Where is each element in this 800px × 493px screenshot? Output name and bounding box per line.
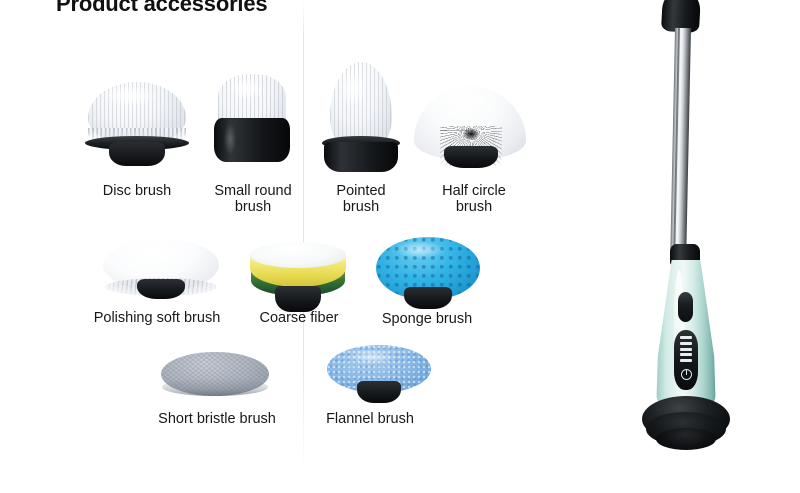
flannel-brush-highlight [349,350,395,364]
accessory-label-pointed-brush: Pointed brush [306,183,416,215]
accessory-label-coarse-fiber: Coarse fiber [243,310,355,326]
half-circle-brush-hub [444,146,498,168]
power-button-icon[interactable] [681,369,692,380]
battery-indicator [680,336,692,362]
accessory-label-disc-brush: Disc brush [72,183,202,199]
half-circle-brush-core [463,128,479,140]
battery-bar [680,359,692,362]
small-round-brush-art [212,72,294,168]
accessory-coarse-fiber [250,242,348,314]
pointed-brush-highlight [340,72,366,106]
polishing-soft-brush-art [103,239,221,301]
battery-bar [680,348,692,351]
accessory-sponge-brush [376,237,482,311]
small-round-brush-highlight [228,78,264,100]
polishing-soft-brush-hub [137,279,185,299]
disc-brush-hub [109,142,165,166]
flannel-brush-hub [357,381,401,403]
accessory-label-half-circle-brush: Half circle brush [416,183,532,215]
accessory-half-circle-brush [414,84,528,172]
accessory-label-small-round-brush: Small round brush [192,183,314,215]
accessory-label-short-bristle-brush: Short bristle brush [141,411,293,427]
accessory-label-flannel-brush: Flannel brush [310,411,430,427]
battery-bar [680,353,692,356]
disc-brush-highlight [102,86,158,106]
spin-scrubber-device [612,0,800,493]
sponge-brush-art [376,237,482,311]
battery-bar [680,342,692,345]
product-accessories-image: Product accessories Disc brush Small rou… [0,0,800,493]
polishing-soft-brush-highlight [129,245,183,263]
coarse-fiber-art [250,242,348,314]
accessory-polishing-soft-brush [103,239,221,301]
flannel-brush-art [327,345,433,405]
accessory-pointed-brush [320,62,402,172]
pointed-brush-art [320,62,402,172]
half-circle-brush-art [414,84,528,172]
accessory-disc-brush [82,78,192,170]
sponge-brush-highlight [396,242,444,258]
disc-brush-art [82,78,192,170]
accessory-small-round-brush [212,72,294,168]
page-title: Product accessories [56,0,267,17]
short-bristle-brush-edge [162,378,268,396]
coarse-fiber-top-surface [250,242,346,268]
speed-button[interactable] [678,292,693,322]
small-round-brush-hub-highlight [224,124,236,154]
pointed-brush-hub [324,142,398,172]
accessory-flannel-brush [327,345,433,405]
sponge-brush-hub [404,287,452,309]
device-base-foot [656,428,716,450]
battery-bar [680,336,692,339]
short-bristle-brush-art [161,352,271,402]
accessory-label-polishing-soft-brush: Polishing soft brush [78,310,236,326]
coarse-fiber-hub [275,286,321,312]
accessory-label-sponge-brush: Sponge brush [363,311,491,327]
accessory-short-bristle-brush [161,352,271,402]
